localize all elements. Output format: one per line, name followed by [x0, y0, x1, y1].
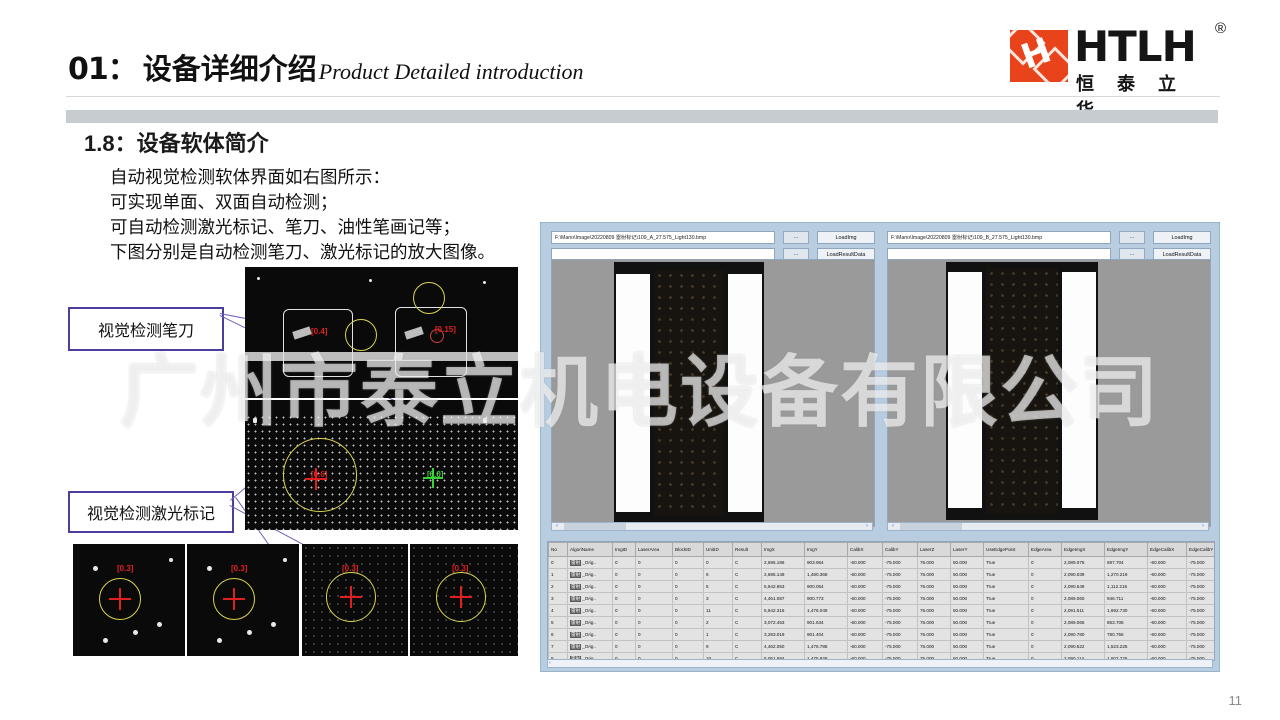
- scroll-left-arrow-icon[interactable]: ‹: [552, 523, 562, 530]
- table-row[interactable]: 4雷射_Orig..00011C5,642.3161,476.049-60.00…: [549, 605, 1216, 617]
- browse-button-right[interactable]: ...: [1119, 231, 1145, 244]
- algorithm-name-chip: 雷射: [570, 608, 581, 614]
- table-cell-result: C: [733, 605, 762, 617]
- table-cell-e_img_y: 863.708: [1105, 617, 1148, 629]
- table-cell-img_y: 901.634: [805, 617, 848, 629]
- load-image-button-right[interactable]: LoadImg: [1153, 231, 1211, 244]
- table-row[interactable]: 6雷射_Orig..0001C3,293.019901.404-60.000-7…: [549, 629, 1216, 641]
- zoom-tag: [0.3]: [342, 564, 358, 573]
- table-cell-e_img_y: 946.711: [1105, 593, 1148, 605]
- knife-outline-1: [283, 309, 353, 377]
- table-cell-algo: 雷射_Orig..: [568, 593, 613, 605]
- pcb-board: [614, 262, 764, 524]
- image-path-row-left: F:\Mano\Image\20220809 雷射标记\109_A_27.575…: [551, 231, 873, 244]
- table-cell-laser_z: 75.000: [918, 581, 951, 593]
- table-cell-laser_area: 0: [636, 569, 673, 581]
- table-hscrollbar[interactable]: ‹: [547, 659, 1213, 668]
- software-panel-right: F:\Mano\Image\20220809 雷射标记\109_B_27.575…: [881, 227, 1215, 533]
- algorithm-name-chip: 雷射: [570, 596, 581, 602]
- table-header-row: NoAlgoriNameImgIDLaserAreaBlockIDUnitIDR…: [549, 543, 1216, 557]
- table-cell-calib_y: -75.000: [883, 629, 918, 641]
- scroll-left-arrow-icon[interactable]: ‹: [888, 523, 898, 530]
- table-cell-no: 1: [549, 569, 568, 581]
- table-cell-use_edge: True: [984, 557, 1029, 569]
- table-cell-calib_x: -60.000: [848, 557, 883, 569]
- section-band: [66, 110, 1218, 123]
- table-cell-laser_y: 50.000: [951, 617, 984, 629]
- logo-mark-icon: H: [1010, 30, 1068, 82]
- table-cell-laser_area: 0: [636, 557, 673, 569]
- hscrollbar-left[interactable]: ‹ ›: [551, 522, 873, 531]
- table-cell-img_y: 903.954: [805, 557, 848, 569]
- table-cell-laser_y: 50.000: [951, 581, 984, 593]
- table-cell-img_id: 0: [613, 581, 636, 593]
- table-cell-laser_area: 0: [636, 641, 673, 653]
- table-cell-laser_area: 0: [636, 629, 673, 641]
- results-table: NoAlgoriNameImgIDLaserAreaBlockIDUnitIDR…: [548, 542, 1215, 661]
- board-white-strip: [616, 274, 650, 512]
- speck: [103, 638, 108, 643]
- table-cell-calib_y: -75.000: [883, 593, 918, 605]
- component-texture: [654, 270, 724, 516]
- table-column-header[interactable]: ImgY: [805, 543, 848, 557]
- table-cell-img_id: 0: [613, 569, 636, 581]
- table-column-header[interactable]: No: [549, 543, 568, 557]
- table-cell-e_img_y: 1,112.215: [1105, 581, 1148, 593]
- crosshair-red: [450, 586, 472, 608]
- table-cell-no: 4: [549, 605, 568, 617]
- table-cell-e_calib_x: -60.000: [1148, 617, 1187, 629]
- table-cell-e_calib_x: -60.000: [1148, 593, 1187, 605]
- table-cell-img_id: 0: [613, 605, 636, 617]
- speck: [257, 277, 260, 280]
- image-knife-zoom-left: [0.3]: [73, 544, 185, 656]
- speck: [369, 279, 372, 282]
- table-column-header[interactable]: LaserZ: [918, 543, 951, 557]
- table-cell-e_img_y: 1,692.730: [1105, 605, 1148, 617]
- table-cell-use_edge: True: [984, 629, 1029, 641]
- knife-outline-2: [395, 307, 467, 377]
- table-cell-e_calib_y: -75.000: [1187, 605, 1216, 617]
- table-cell-result: C: [733, 569, 762, 581]
- table-cell-edge_area: 0: [1029, 569, 1062, 581]
- table-cell-laser_z: 75.000: [918, 557, 951, 569]
- table-cell-img_id: 0: [613, 617, 636, 629]
- table-cell-edge_area: 0: [1029, 593, 1062, 605]
- table-cell-img_x: 4,462.050: [762, 641, 805, 653]
- table-cell-img_x: 4,461.087: [762, 593, 805, 605]
- table-column-header[interactable]: EdgeArea: [1029, 543, 1062, 557]
- image-laser-zoom-left: [0.3]: [302, 544, 408, 656]
- table-cell-use_edge: True: [984, 641, 1029, 653]
- bullet-item: 下图分别是自动检测笔刀、激光标记的放大图像。: [110, 240, 495, 265]
- zoom-tag: [0.3]: [452, 564, 468, 573]
- table-cell-unit_id: 6: [704, 569, 733, 581]
- table-cell-laser_y: 50.000: [951, 569, 984, 581]
- table-cell-result: C: [733, 557, 762, 569]
- callout-knife: 视觉检测笔刀: [68, 307, 224, 351]
- table-cell-laser_z: 75.000: [918, 605, 951, 617]
- image-knife-inspection: [0.4] [0.15]: [245, 267, 518, 398]
- table-cell-e_img_x: 2,089.065: [1062, 617, 1105, 629]
- table-cell-block_id: 0: [673, 641, 704, 653]
- table-row[interactable]: 2雷射_Orig..0005C5,642.953900.054-60.000-7…: [549, 581, 1216, 593]
- table-cell-e_calib_y: -75.000: [1187, 569, 1216, 581]
- table-cell-result: C: [733, 629, 762, 641]
- table-cell-edge_area: 0: [1029, 557, 1062, 569]
- table-scroll-left-arrow-icon[interactable]: ‹: [549, 660, 551, 667]
- table-column-header[interactable]: EdgeCalibY: [1187, 543, 1216, 557]
- speck: [93, 566, 98, 571]
- crosshair-red: [340, 586, 362, 608]
- table-cell-e_calib_y: -75.000: [1187, 617, 1216, 629]
- registered-trademark-icon: ®: [1215, 20, 1226, 37]
- crosshair-red: [223, 588, 245, 610]
- table-cell-no: 5: [549, 617, 568, 629]
- table-cell-block_id: 0: [673, 629, 704, 641]
- algorithm-name-chip: 雷射: [570, 572, 581, 578]
- table-cell-e_calib_x: -60.000: [1148, 581, 1187, 593]
- table-column-header[interactable]: EdgeImgY: [1105, 543, 1148, 557]
- table-cell-e_img_x: 2,090.522: [1062, 641, 1105, 653]
- table-cell-calib_y: -75.000: [883, 605, 918, 617]
- table-cell-laser_y: 50.000: [951, 605, 984, 617]
- table-cell-algo: 雷射_Orig..: [568, 629, 613, 641]
- table-cell-algo: 雷射_Orig..: [568, 569, 613, 581]
- table-body: 0雷射_Orig..0000C2,695.186903.954-60.000-7…: [549, 557, 1216, 662]
- table-cell-result: C: [733, 617, 762, 629]
- slide-header: 01：设备详细介绍Product Detailed introduction H…: [0, 0, 1280, 104]
- table-cell-algo: 雷射_Orig..: [568, 605, 613, 617]
- table-cell-edge_area: 0: [1029, 581, 1062, 593]
- table-column-header[interactable]: AlgoriName: [568, 543, 613, 557]
- table-column-header[interactable]: ImgX: [762, 543, 805, 557]
- table-cell-e_calib_x: -60.000: [1148, 569, 1187, 581]
- algorithm-name-chip: 雷射: [570, 584, 581, 590]
- measurement-tag-right: [0.15]: [435, 325, 456, 334]
- table-cell-e_calib_y: -75.000: [1187, 581, 1216, 593]
- pcb-board: [946, 262, 1098, 520]
- table-cell-no: 3: [549, 593, 568, 605]
- table-cell-laser_area: 0: [636, 593, 673, 605]
- browse-button-left[interactable]: ...: [783, 231, 809, 244]
- scroll-right-arrow-icon[interactable]: ›: [1198, 523, 1208, 530]
- speck: [247, 630, 252, 635]
- table-column-header[interactable]: BlockID: [673, 543, 704, 557]
- table-row[interactable]: 3雷射_Orig..0003C4,461.087900.773-60.000-7…: [549, 593, 1216, 605]
- table-cell-use_edge: True: [984, 569, 1029, 581]
- table-cell-img_y: 1,476.788: [805, 641, 848, 653]
- table-cell-use_edge: True: [984, 593, 1029, 605]
- table-cell-block_id: 0: [673, 557, 704, 569]
- table-cell-calib_x: -60.000: [848, 581, 883, 593]
- marker-dot: [483, 418, 487, 423]
- table-cell-img_y: 1,476.049: [805, 605, 848, 617]
- zoom-tag: [0.3]: [231, 564, 247, 573]
- table-column-header[interactable]: LaserY: [951, 543, 984, 557]
- table-cell-e_calib_y: -75.000: [1187, 629, 1216, 641]
- laser-tag-red: [0.6]: [311, 470, 327, 479]
- speck: [169, 558, 173, 562]
- table-cell-img_x: 5,642.953: [762, 581, 805, 593]
- table-cell-img_x: 5,642.316: [762, 605, 805, 617]
- algorithm-name-chip: 雷射: [570, 632, 581, 638]
- table-cell-block_id: 0: [673, 581, 704, 593]
- table-column-header[interactable]: Result: [733, 543, 762, 557]
- table-cell-img_x: 3,293.019: [762, 629, 805, 641]
- table-cell-algo: 雷射_Orig..: [568, 617, 613, 629]
- table-column-header[interactable]: UnitID: [704, 543, 733, 557]
- table-cell-unit_id: 2: [704, 617, 733, 629]
- speck: [217, 638, 222, 643]
- image-laser-mark-inspection: [0.6] [0.0]: [245, 400, 518, 530]
- table-cell-calib_y: -75.000: [883, 617, 918, 629]
- table-cell-calib_x: -60.000: [848, 569, 883, 581]
- table-cell-img_id: 0: [613, 641, 636, 653]
- table-cell-e_calib_x: -60.000: [1148, 629, 1187, 641]
- table-cell-e_img_x: 2,089.075: [1062, 557, 1105, 569]
- table-cell-result: C: [733, 641, 762, 653]
- table-cell-block_id: 0: [673, 569, 704, 581]
- table-cell-e_calib_y: -75.000: [1187, 593, 1216, 605]
- table-column-header[interactable]: CalibY: [883, 543, 918, 557]
- table-cell-use_edge: True: [984, 605, 1029, 617]
- table-column-header[interactable]: CalibX: [848, 543, 883, 557]
- table-cell-e_img_y: 1,523.225: [1105, 641, 1148, 653]
- logo-text-en: HTLH: [1074, 24, 1196, 70]
- algorithm-name-chip: 雷射: [570, 620, 581, 626]
- table-row[interactable]: 1雷射_Orig..0006C2,695.1491,480.368-60.000…: [549, 569, 1216, 581]
- board-component-area: [986, 268, 1058, 514]
- table-cell-e_calib_y: -75.000: [1187, 557, 1216, 569]
- speck: [157, 622, 162, 627]
- table-cell-block_id: 0: [673, 593, 704, 605]
- table-cell-calib_x: -60.000: [848, 593, 883, 605]
- board-white-strip: [728, 274, 762, 512]
- bullet-list: 自动视觉检测软体界面如右图所示： 可实现单面、双面自动检测； 可自动检测激光标记…: [110, 165, 495, 265]
- table-cell-e_calib_x: -60.000: [1148, 605, 1187, 617]
- table-cell-algo: 雷射_Orig..: [568, 581, 613, 593]
- table-row[interactable]: 5雷射_Orig..0002C3,072.453901.634-60.000-7…: [549, 617, 1216, 629]
- table-cell-laser_area: 0: [636, 605, 673, 617]
- table-cell-edge_area: 0: [1029, 605, 1062, 617]
- board-white-strip: [948, 272, 982, 508]
- slide: 01：设备详细介绍Product Detailed introduction H…: [0, 0, 1280, 720]
- algorithm-name-chip: 雷射: [570, 644, 581, 650]
- table-cell-calib_x: -60.000: [848, 629, 883, 641]
- table-row[interactable]: 7雷射_Orig..0009C4,462.0501,476.788-60.000…: [549, 641, 1216, 653]
- board-component-area: [654, 270, 724, 516]
- speck: [283, 558, 287, 562]
- table-cell-img_x: 3,072.453: [762, 617, 805, 629]
- table-cell-laser_area: 0: [636, 581, 673, 593]
- table-cell-calib_y: -75.000: [883, 569, 918, 581]
- table-cell-laser_z: 75.000: [918, 569, 951, 581]
- speck: [271, 622, 276, 627]
- table-cell-unit_id: 1: [704, 629, 733, 641]
- table-cell-img_x: 2,695.149: [762, 569, 805, 581]
- table-row[interactable]: 0雷射_Orig..0000C2,695.186903.954-60.000-7…: [549, 557, 1216, 569]
- scroll-thumb[interactable]: [564, 523, 626, 530]
- table-cell-laser_z: 75.000: [918, 593, 951, 605]
- table-cell-e_img_y: 1,270.219: [1105, 569, 1148, 581]
- image-laser-zoom-right: [0.3]: [410, 544, 518, 656]
- page-title-cn: 设备详细介绍: [143, 54, 317, 86]
- table-cell-edge_area: 0: [1029, 617, 1062, 629]
- table-cell-e_img_y: 697.704: [1105, 557, 1148, 569]
- table-cell-unit_id: 11: [704, 605, 733, 617]
- table-cell-calib_x: -60.000: [848, 617, 883, 629]
- company-logo: H HTLH ® 恒 泰 立 华: [1010, 24, 1224, 96]
- table-column-header[interactable]: EdgeImgX: [1062, 543, 1105, 557]
- table-cell-no: 0: [549, 557, 568, 569]
- marker-dot: [253, 418, 257, 423]
- bullet-item: 自动视觉检测软体界面如右图所示：: [110, 165, 495, 190]
- zoom-tag: [0.3]: [117, 564, 133, 573]
- header-divider: [66, 96, 1220, 97]
- table-cell-no: 7: [549, 641, 568, 653]
- table-cell-laser_y: 50.000: [951, 557, 984, 569]
- image-path-input-left[interactable]: F:\Mano\Image\20220809 雷射标记\109_A_27.575…: [551, 231, 775, 244]
- table-cell-calib_y: -75.000: [883, 581, 918, 593]
- table-cell-laser_z: 75.000: [918, 617, 951, 629]
- table-cell-e_img_x: 2,090.039: [1062, 569, 1105, 581]
- scroll-thumb[interactable]: [900, 523, 962, 530]
- table-cell-block_id: 0: [673, 605, 704, 617]
- hscrollbar-right[interactable]: ‹ ›: [887, 522, 1209, 531]
- table-column-header[interactable]: EdgeCalibX: [1148, 543, 1187, 557]
- table-cell-result: C: [733, 593, 762, 605]
- table-cell-calib_x: -60.000: [848, 641, 883, 653]
- table-column-header[interactable]: LaserArea: [636, 543, 673, 557]
- table-cell-use_edge: True: [984, 617, 1029, 629]
- table-cell-e_img_x: 2,090.780: [1062, 629, 1105, 641]
- table-cell-use_edge: True: [984, 581, 1029, 593]
- bullet-item: 可自动检测激光标记、笔刀、油性笔画记等；: [110, 215, 495, 240]
- table-cell-result: C: [733, 581, 762, 593]
- results-table-container[interactable]: NoAlgoriNameImgIDLaserAreaBlockIDUnitIDR…: [547, 541, 1215, 661]
- table-cell-e_img_x: 2,091.511: [1062, 605, 1105, 617]
- table-column-header[interactable]: ImgID: [613, 543, 636, 557]
- software-panel-left: F:\Mano\Image\20220809 雷射标记\109_A_27.575…: [545, 227, 879, 533]
- board-white-strip: [1062, 272, 1096, 508]
- table-cell-no: 2: [549, 581, 568, 593]
- speck: [207, 566, 212, 571]
- table-cell-calib_y: -75.000: [883, 557, 918, 569]
- table-cell-unit_id: 5: [704, 581, 733, 593]
- callout-laser: 视觉检测激光标记: [68, 491, 234, 533]
- table-cell-unit_id: 3: [704, 593, 733, 605]
- table-cell-edge_area: 0: [1029, 641, 1062, 653]
- table-cell-img_x: 2,695.186: [762, 557, 805, 569]
- laser-tag-green: [0.0]: [427, 470, 443, 479]
- table-cell-no: 6: [549, 629, 568, 641]
- page-title-number: 01：: [68, 52, 137, 87]
- table-cell-e_calib_y: -75.000: [1187, 641, 1216, 653]
- table-cell-calib_y: -75.000: [883, 641, 918, 653]
- table-cell-img_id: 0: [613, 593, 636, 605]
- page-title: 01：设备详细介绍Product Detailed introduction: [68, 44, 584, 88]
- page-title-en: Product Detailed introduction: [319, 59, 584, 84]
- table-cell-img_y: 1,480.368: [805, 569, 848, 581]
- table-cell-img_y: 900.773: [805, 593, 848, 605]
- table-cell-calib_x: -60.000: [848, 605, 883, 617]
- bullet-item: 可实现单面、双面自动检测；: [110, 190, 495, 215]
- crosshair-red: [109, 588, 131, 610]
- table-cell-e_calib_x: -60.000: [1148, 557, 1187, 569]
- table-cell-laser_z: 75.000: [918, 629, 951, 641]
- table-cell-img_id: 0: [613, 629, 636, 641]
- table-cell-edge_area: 0: [1029, 629, 1062, 641]
- table-cell-laser_z: 75.000: [918, 641, 951, 653]
- table-cell-e_img_x: 2,089.060: [1062, 593, 1105, 605]
- table-cell-unit_id: 0: [704, 557, 733, 569]
- table-cell-laser_y: 50.000: [951, 641, 984, 653]
- image-canvas-right[interactable]: [887, 259, 1211, 527]
- component-texture: [986, 268, 1058, 514]
- table-cell-block_id: 0: [673, 617, 704, 629]
- image-path-input-right[interactable]: F:\Mano\Image\20220809 雷射标记\109_B_27.575…: [887, 231, 1111, 244]
- image-path-row-right: F:\Mano\Image\20220809 雷射标记\109_B_27.575…: [887, 231, 1209, 244]
- table-cell-img_y: 901.404: [805, 629, 848, 641]
- table-cell-e_img_y: 780.756: [1105, 629, 1148, 641]
- image-knife-zoom-right: [0.3]: [187, 544, 299, 656]
- table-column-header[interactable]: UseEdgePoint: [984, 543, 1029, 557]
- table-cell-laser_y: 50.000: [951, 593, 984, 605]
- speck: [133, 630, 138, 635]
- table-cell-algo: 雷射_Orig..: [568, 641, 613, 653]
- table-cell-e_calib_x: -60.000: [1148, 641, 1187, 653]
- section-subtitle: 1.8：设备软体简介: [84, 126, 269, 158]
- detection-circle: [413, 282, 445, 314]
- table-cell-e_img_x: 2,090.549: [1062, 581, 1105, 593]
- table-cell-img_y: 900.054: [805, 581, 848, 593]
- scroll-right-arrow-icon[interactable]: ›: [862, 523, 872, 530]
- detection-circle: [345, 319, 377, 351]
- page-number: 11: [1229, 693, 1243, 708]
- measurement-tag-left: [0.4]: [311, 327, 327, 336]
- software-window[interactable]: F:\Mano\Image\20220809 雷射标记\109_A_27.575…: [540, 222, 1220, 672]
- table-cell-laser_y: 50.000: [951, 629, 984, 641]
- table-cell-unit_id: 9: [704, 641, 733, 653]
- speck: [483, 281, 486, 284]
- table-cell-algo: 雷射_Orig..: [568, 557, 613, 569]
- image-canvas-left[interactable]: [551, 259, 875, 527]
- load-image-button-left[interactable]: LoadImg: [817, 231, 875, 244]
- table-cell-laser_area: 0: [636, 617, 673, 629]
- table-cell-img_id: 0: [613, 557, 636, 569]
- algorithm-name-chip: 雷射: [570, 560, 581, 566]
